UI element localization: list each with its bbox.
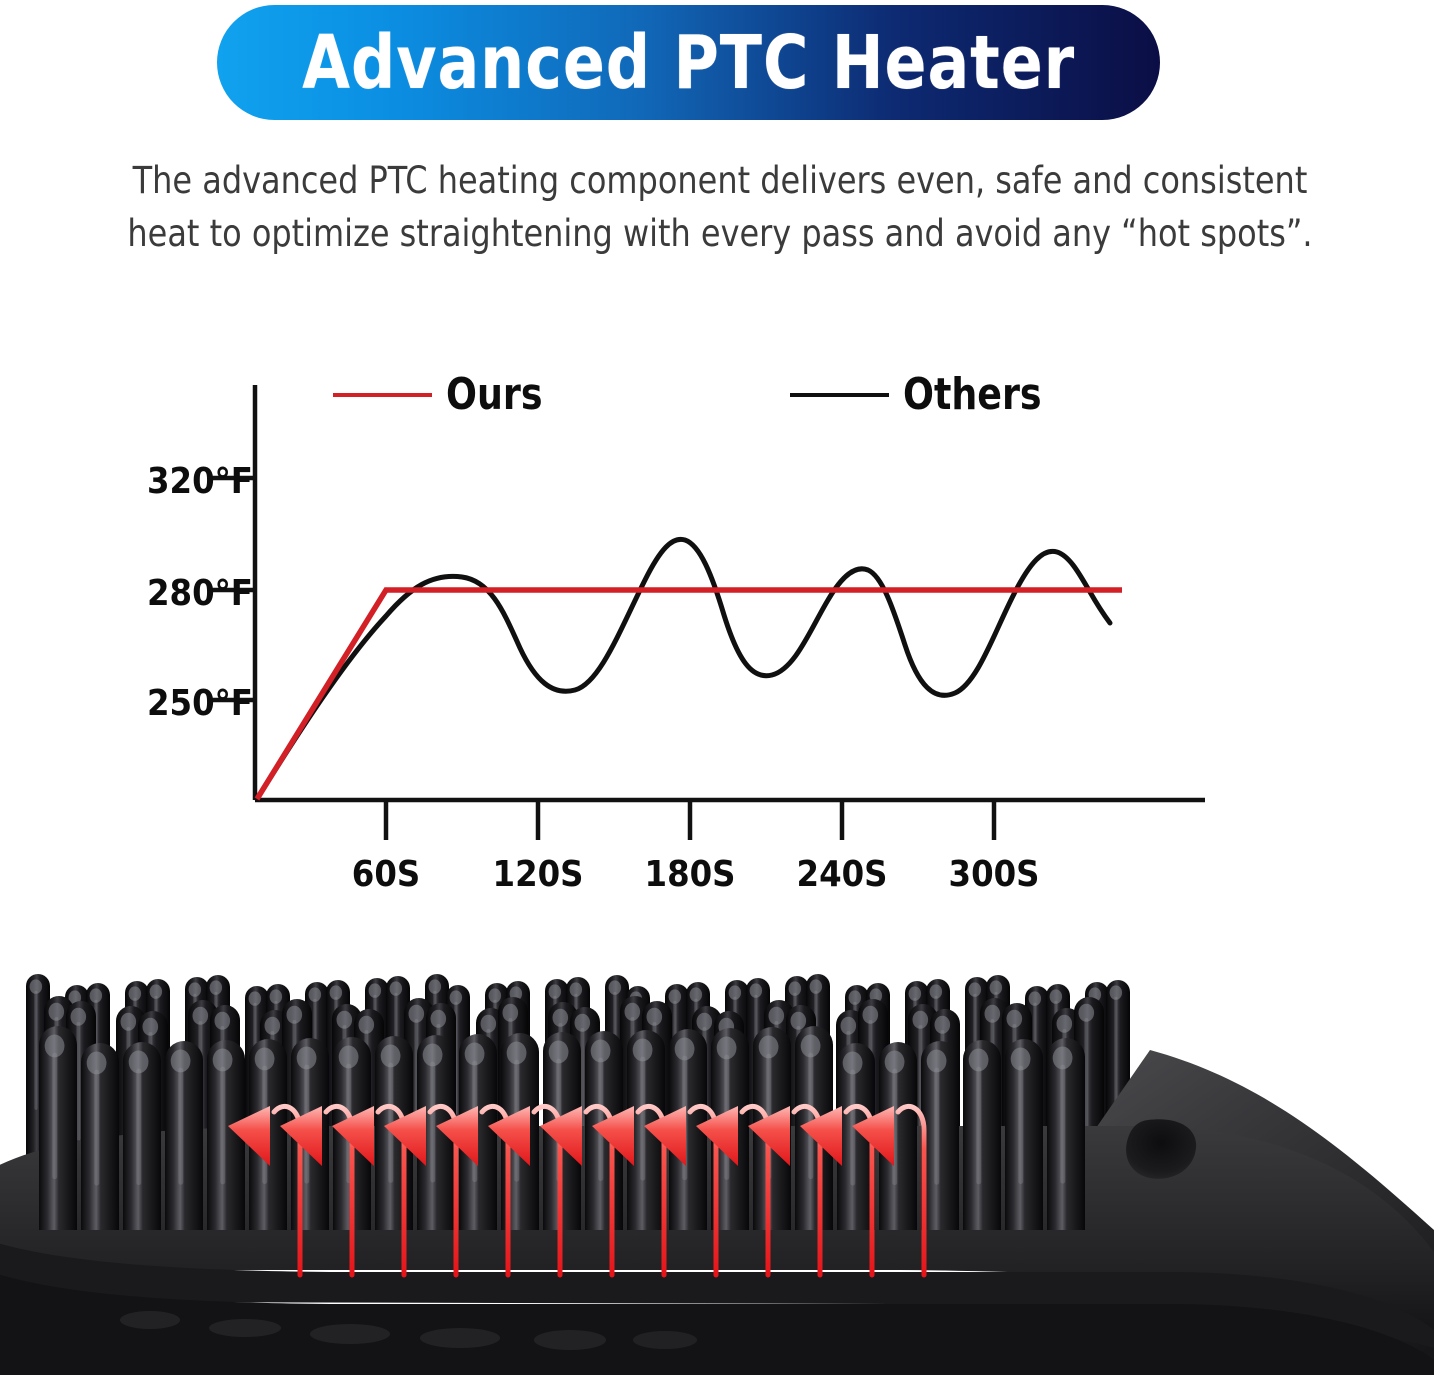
bristle-front <box>81 1043 119 1230</box>
bristle-specular <box>598 1058 603 1181</box>
subtitle-line-1: The advanced PTC heating component deliv… <box>77 155 1363 208</box>
bristle-front <box>921 1041 959 1230</box>
x-axis-ticks <box>386 800 994 840</box>
y-axis-labels: 320°F 280°F 250°F <box>147 461 253 724</box>
legend-label-others: Others <box>903 368 1042 419</box>
bristle-front <box>123 1042 161 1230</box>
title-banner: Advanced PTC Heater <box>217 5 1160 120</box>
bristle-specular <box>1060 1065 1065 1184</box>
grip-pad <box>534 1330 606 1350</box>
x-label-120s: 120S <box>493 854 584 890</box>
bristle-specular <box>178 1068 183 1185</box>
bristle-specular <box>52 1053 57 1179</box>
bristle-specular <box>94 1070 99 1186</box>
grip-pad <box>310 1324 390 1344</box>
bristle-specular <box>220 1067 225 1185</box>
bristle-specular <box>34 991 37 1110</box>
grip-pad <box>209 1319 281 1337</box>
x-axis-labels: 60S 120S 180S 240S 300S <box>352 854 1040 890</box>
chart-svg: Ours Others 320°F 280°F 250°F <box>0 330 1434 890</box>
bristle-front <box>963 1040 1001 1230</box>
x-label-240s: 240S <box>797 854 888 890</box>
bristle-specular <box>1114 997 1117 1112</box>
bristle-specular <box>934 1068 939 1185</box>
series-line-ours <box>257 590 1122 799</box>
infographic-page: Advanced PTC Heater The advanced PTC hea… <box>0 0 1434 1375</box>
chart-legend: Ours Others <box>333 368 1042 419</box>
subtitle-text: The advanced PTC heating component deliv… <box>77 155 1363 260</box>
x-label-300s: 300S <box>949 854 1040 890</box>
subtitle-line-2: heat to optimize straightening with ever… <box>77 208 1363 261</box>
y-label-280: 280°F <box>147 573 253 614</box>
grip-pad <box>420 1328 500 1348</box>
series-line-others <box>257 539 1110 799</box>
product-photo <box>0 930 1434 1375</box>
page-title: Advanced PTC Heater <box>302 26 1075 100</box>
bristle-specular <box>136 1069 141 1186</box>
bristle-specular <box>1085 1018 1089 1139</box>
y-label-320: 320°F <box>147 461 253 502</box>
x-label-60s: 60S <box>352 854 420 890</box>
x-label-180s: 180S <box>645 854 736 890</box>
bristle-specular <box>808 1053 813 1179</box>
legend-label-ours: Ours <box>446 368 543 419</box>
bristle-specular <box>77 1022 81 1140</box>
product-svg <box>0 930 1434 1375</box>
temperature-chart: Ours Others 320°F 280°F 250°F <box>0 330 1434 890</box>
bristle-specular <box>1018 1066 1023 1184</box>
bristle-specular <box>976 1067 981 1185</box>
y-label-250: 250°F <box>147 683 253 724</box>
grip-pad <box>633 1331 697 1349</box>
bristle-front <box>39 1026 77 1230</box>
bristle-front <box>1047 1038 1085 1230</box>
bristle-front <box>165 1041 203 1230</box>
grip-pad <box>120 1311 180 1329</box>
bristle-specular <box>430 1062 435 1183</box>
bristle-specular <box>640 1057 645 1181</box>
bristle-front <box>1005 1039 1043 1230</box>
